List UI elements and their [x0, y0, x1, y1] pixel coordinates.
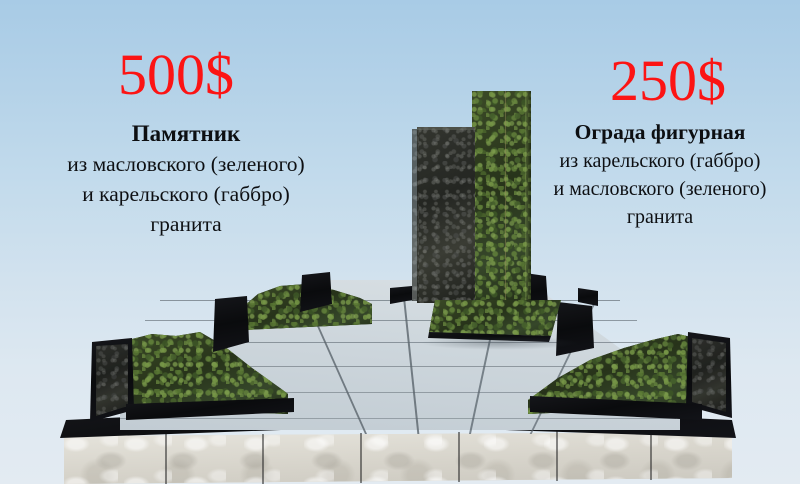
foundation-joint — [165, 434, 167, 484]
advertisement-image: 500$ Памятник из масловского (зеленого) … — [0, 0, 800, 484]
fence-post-left-front-face — [96, 344, 128, 416]
paving-line — [120, 418, 676, 419]
caption-left-line-1: из масловского (зеленого) — [0, 149, 372, 179]
monument-stele — [417, 127, 475, 303]
foundation-joint — [262, 434, 264, 484]
caption-right-line-2: и масловского (зеленого) — [520, 175, 800, 203]
caption-right: Ограда фигурная из карельского (габбро) … — [520, 118, 800, 231]
caption-left-line-3: гранита — [0, 209, 372, 239]
foundation-joint — [360, 433, 362, 483]
price-left: 500$ — [118, 46, 234, 104]
caption-right-line-3: гранита — [520, 203, 800, 231]
foundation-joint — [650, 430, 652, 480]
caption-right-title: Ограда фигурная — [520, 118, 800, 147]
stele-top-edge — [417, 127, 475, 130]
border-stone-right — [578, 288, 598, 306]
caption-left-line-2: и карельского (габбро) — [0, 179, 372, 209]
fence-post-right-front-face — [692, 338, 726, 412]
monument-stele-side — [412, 129, 419, 301]
caption-right-line-1: из карельского (габбро) — [520, 147, 800, 175]
foundation-joint — [556, 431, 558, 481]
back-panel-seam — [505, 91, 506, 303]
grave-slab — [429, 300, 561, 336]
foundation-joint — [458, 432, 460, 482]
price-right: 250$ — [610, 52, 726, 110]
caption-left: Памятник из масловского (зеленого) и кар… — [0, 118, 372, 239]
caption-left-title: Памятник — [0, 118, 372, 149]
ground-shadow — [420, 336, 580, 350]
